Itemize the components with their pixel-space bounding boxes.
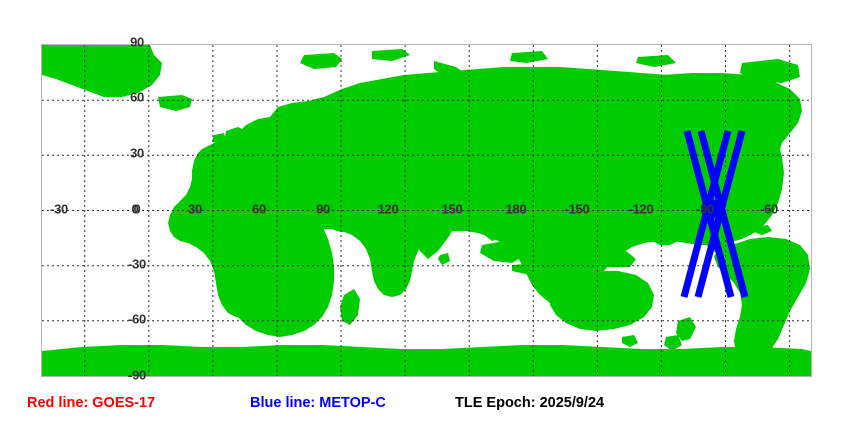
sri-lanka bbox=[438, 253, 450, 265]
lat-tick--30: -30 bbox=[128, 257, 146, 272]
lat-tick-90: 90 bbox=[130, 35, 144, 50]
legend-tle-epoch: TLE Epoch: 2025/9/24 bbox=[455, 392, 604, 414]
iceland bbox=[158, 95, 192, 111]
lon-tick-60: 60 bbox=[252, 202, 266, 217]
lon-tick-120: 120 bbox=[378, 202, 399, 217]
lat-tick--60: -60 bbox=[128, 312, 146, 327]
severnaya-zemlya bbox=[510, 51, 548, 63]
legend-red-line-goes-17: Red line: GOES-17 bbox=[27, 392, 155, 414]
south-america bbox=[714, 237, 810, 363]
lat-tick-0: 0 bbox=[132, 202, 139, 217]
new-siberian bbox=[636, 55, 676, 67]
lon-tick-180: 180 bbox=[506, 202, 527, 217]
australia bbox=[548, 271, 654, 331]
lon-tick-150: 150 bbox=[442, 202, 463, 217]
madagascar bbox=[340, 289, 360, 325]
lon-tick-30: 30 bbox=[188, 202, 202, 217]
lon-tick-90: 90 bbox=[316, 202, 330, 217]
tasmania bbox=[622, 335, 638, 347]
lon-tick--30: -30 bbox=[50, 202, 68, 217]
franz-josef bbox=[372, 49, 410, 61]
lon-tick--90: -90 bbox=[696, 202, 714, 217]
new-zealand-south bbox=[664, 335, 682, 351]
lon-tick--60: -60 bbox=[760, 202, 778, 217]
svalbard bbox=[300, 53, 342, 69]
legend: Red line: GOES-17 Blue line: METOP-C TLE… bbox=[0, 392, 850, 420]
lat-tick--90: -90 bbox=[128, 368, 146, 383]
antarctica bbox=[42, 345, 811, 376]
lon-tick--150: -150 bbox=[565, 202, 590, 217]
satellite-track-figure: -30 0 30 60 90 120 150 180 -150 -120 -90… bbox=[0, 0, 850, 425]
lat-tick-30: 30 bbox=[130, 146, 144, 161]
legend-blue-line-metop-c: Blue line: METOP-C bbox=[250, 392, 386, 414]
lon-tick--120: -120 bbox=[629, 202, 654, 217]
lat-tick-60: 60 bbox=[130, 90, 144, 105]
